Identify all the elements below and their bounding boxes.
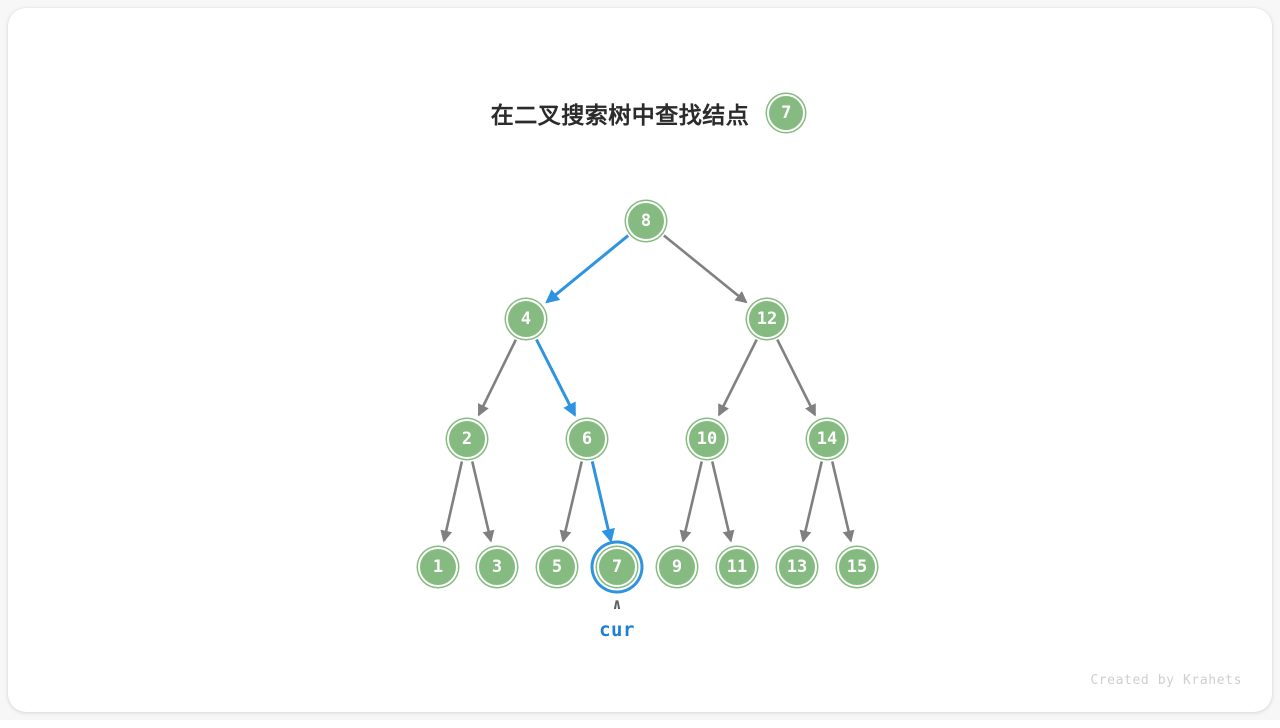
tree-edge-10-to-9 (683, 461, 702, 540)
tree-node-3: 3 (477, 547, 517, 587)
tree-edge-2-to-1 (444, 461, 462, 540)
tree-node-12: 12 (747, 299, 787, 339)
tree-node-4: 4 (506, 299, 546, 339)
target-value-badge: 7 (767, 94, 805, 132)
tree-node-8: 8 (626, 201, 666, 241)
tree-node-6: 6 (567, 419, 607, 459)
tree-edge-8-to-12 (664, 235, 746, 302)
tree-edge-14-to-15 (832, 461, 851, 540)
tree-edge-8-to-4 (547, 236, 628, 302)
tree-node-13: 13 (777, 547, 817, 587)
page-title: 在二叉搜索树中查找结点 (491, 96, 750, 130)
cur-caret-icon: ∧ (612, 597, 621, 612)
tree-edge-12-to-10 (719, 340, 757, 415)
tree-edge-6-to-7 (592, 461, 611, 540)
tree-edge-4-to-6 (536, 340, 574, 415)
footer-credit: Created by Krahets (1090, 673, 1242, 688)
tree-node-5: 5 (537, 547, 577, 587)
cur-pointer-label: cur (599, 621, 635, 640)
tree-edge-6-to-5 (563, 461, 582, 540)
screenshot-stage: 在二叉搜索树中查找结点 7 841226101413579111315 ∧ cu… (0, 0, 1280, 720)
figure-card: 在二叉搜索树中查找结点 7 841226101413579111315 ∧ cu… (8, 8, 1272, 712)
tree-node-1: 1 (418, 547, 458, 587)
binary-search-tree-figure: 在二叉搜索树中查找结点 7 841226101413579111315 ∧ cu… (8, 8, 1272, 712)
title-row: 在二叉搜索树中查找结点 7 (8, 94, 1280, 132)
tree-edge-12-to-14 (777, 340, 815, 415)
tree-node-14: 14 (807, 419, 847, 459)
tree-edge-4-to-2 (479, 340, 516, 415)
tree-node-7: 7 (597, 547, 637, 587)
tree-node-2: 2 (447, 419, 487, 459)
tree-node-9: 9 (657, 547, 697, 587)
tree-edge-14-to-13 (803, 461, 822, 540)
tree-edge-10-to-11 (712, 461, 731, 540)
tree-node-15: 15 (837, 547, 877, 587)
tree-node-11: 11 (717, 547, 757, 587)
tree-edge-2-to-3 (472, 461, 491, 540)
tree-node-10: 10 (687, 419, 727, 459)
edge-layer (444, 235, 851, 540)
